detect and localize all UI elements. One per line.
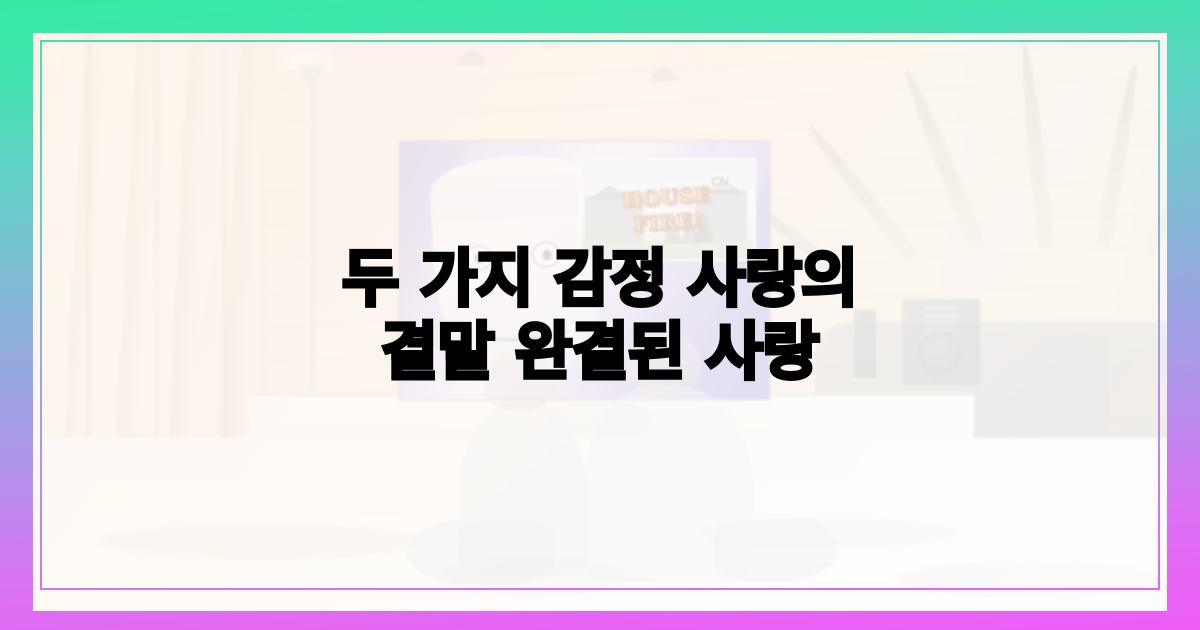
viewer-arm <box>547 400 649 438</box>
thumbnail-card: HOUSE FIRE! CN 두 가지 감정 사랑의 <box>0 0 1200 630</box>
news-headline-line2: FIRE! <box>633 208 704 237</box>
tv-screen: HOUSE FIRE! CN <box>400 142 769 399</box>
cartoon-anchor-nose <box>508 256 529 304</box>
cartoon-anchor-mouth <box>475 314 571 343</box>
viewer-right-head <box>626 331 701 397</box>
cartoon-anchor-pupil <box>474 253 484 265</box>
wall-decal-icon <box>652 68 674 81</box>
cartoon-anchor-pupil <box>542 249 552 261</box>
floor-lamp-cone <box>296 64 326 90</box>
channel-logo: CN <box>709 174 730 189</box>
television: HOUSE FIRE! CN <box>400 142 769 399</box>
floor-lamp-pole <box>311 87 316 388</box>
viewer-left-head <box>484 348 554 412</box>
cartoon-anchor-eye <box>531 241 561 268</box>
cartoon-anchor-hair <box>428 153 600 222</box>
cartoon-anchor-eye <box>463 245 493 272</box>
photo-plate: HOUSE FIRE! CN <box>33 33 1167 611</box>
wall-decal-icon <box>543 39 559 48</box>
living-room-photo: HOUSE FIRE! CN <box>33 33 1167 611</box>
news-inset: HOUSE FIRE! CN <box>579 158 756 261</box>
